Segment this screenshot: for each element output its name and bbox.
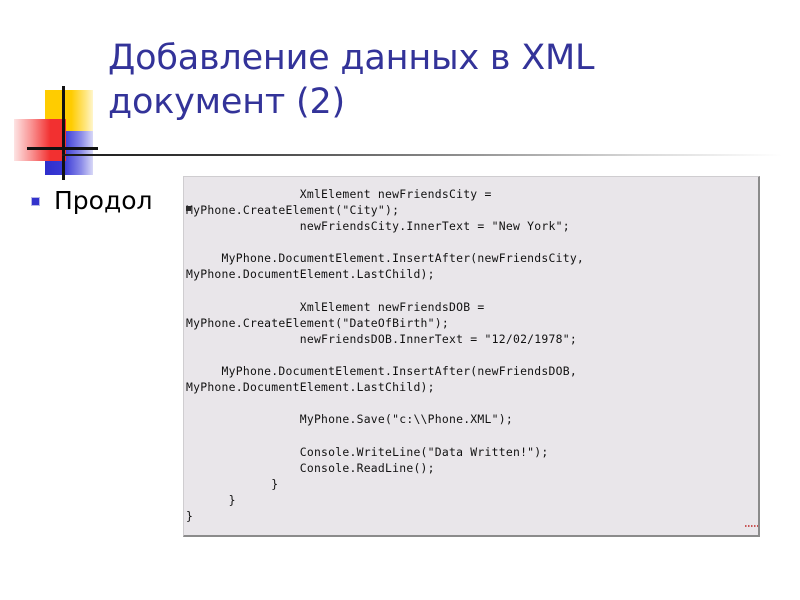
spellcheck-underline-icon [745, 525, 760, 527]
slide-title: Добавление данных в XML документ (2) [108, 36, 728, 124]
slide-title-text: Добавление данных в XML документ (2) [108, 36, 728, 124]
body-bullet-item: Продол [31, 186, 153, 216]
decorative-squares-logo [14, 86, 98, 180]
logo-vertical-line-icon [62, 86, 65, 180]
logo-red-square-icon [14, 119, 66, 161]
code-snippet-text: XmlElement newFriendsCity = MyPhone.Crea… [184, 186, 760, 524]
code-inline-bullet-icon [186, 206, 191, 211]
bullet-marker-icon [31, 197, 40, 206]
code-snippet-content: XmlElement newFriendsCity = MyPhone.Crea… [184, 186, 760, 524]
logo-horizontal-line-icon [27, 147, 98, 150]
title-divider-rule [62, 154, 782, 156]
slide-canvas: Добавление данных в XML документ (2) Про… [0, 0, 800, 600]
code-snippet-image: XmlElement newFriendsCity = MyPhone.Crea… [183, 176, 760, 537]
bullet-item-label: Продол [54, 186, 153, 216]
